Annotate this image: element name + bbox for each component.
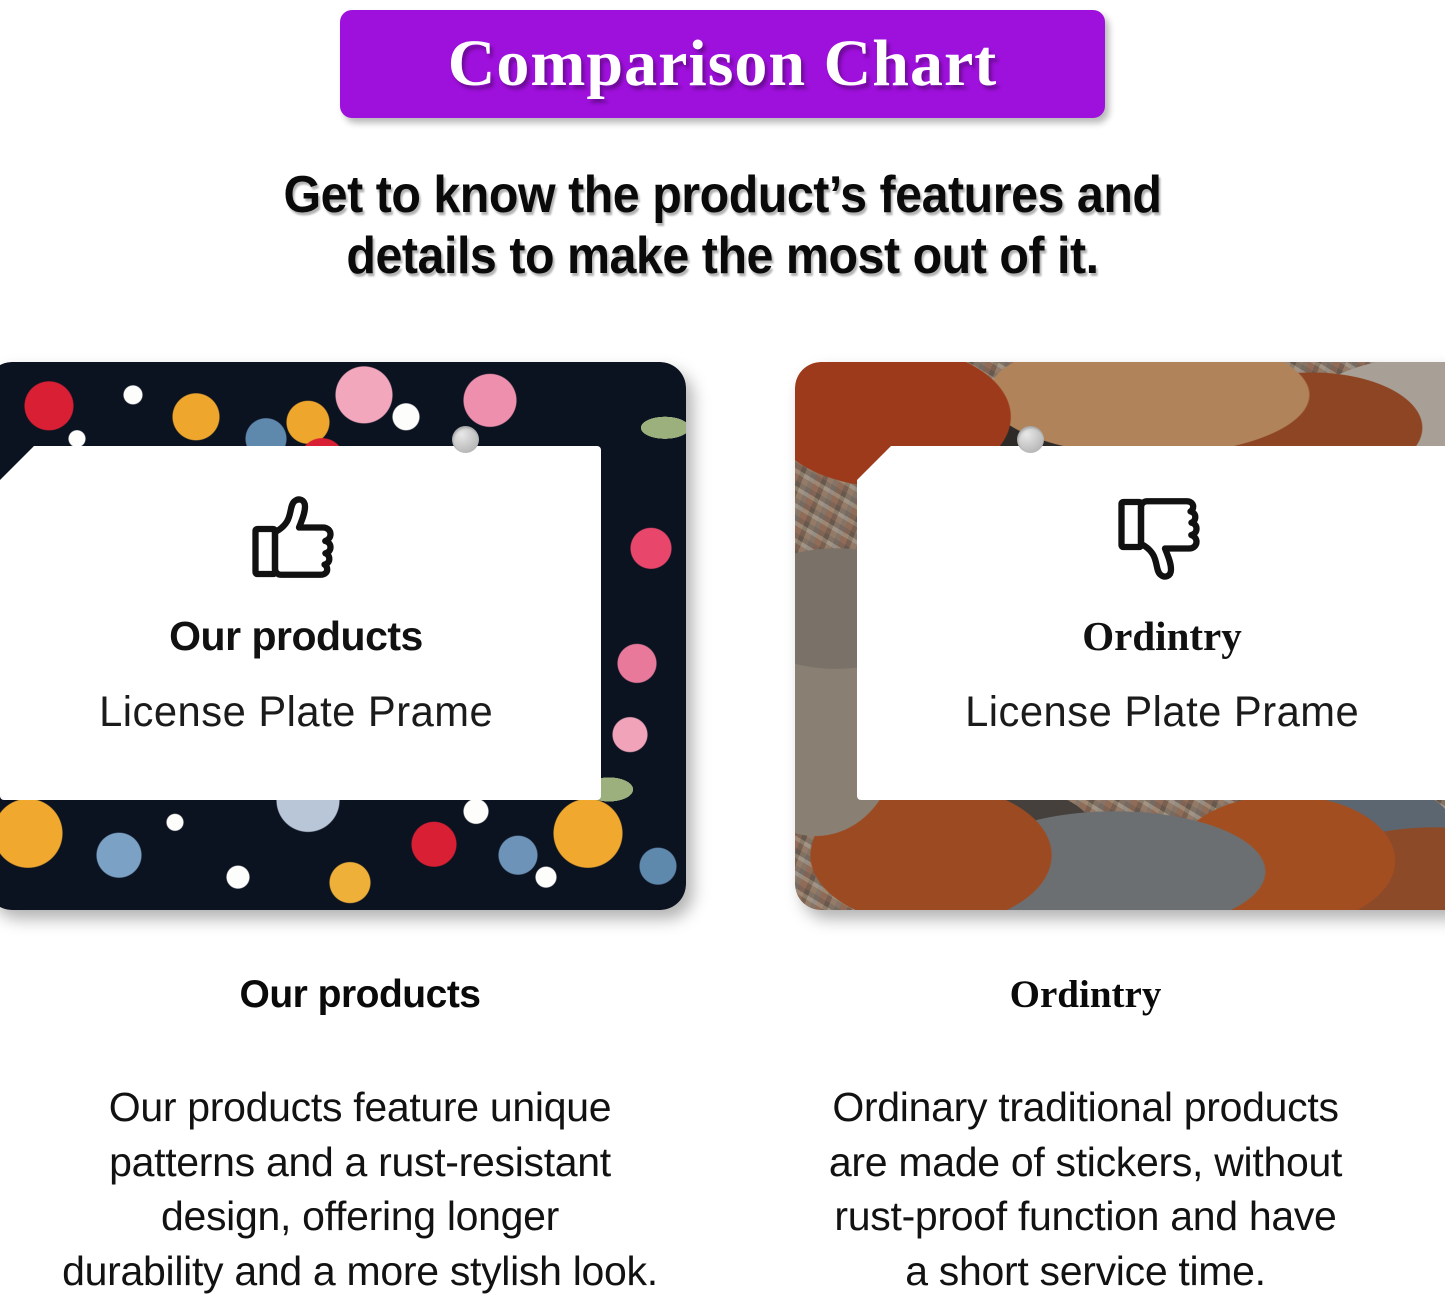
description-line: are made of stickers, without [726,1135,1445,1190]
license-plate-window [0,446,601,800]
description-ordintry: Ordintry Ordinary traditional products a… [726,975,1445,1298]
title-banner: Comparison Chart [340,10,1105,118]
description-our-products: Our products Our products feature unique… [0,975,720,1298]
description-line: patterns and a rust-resistant [0,1135,720,1190]
license-plate-window [857,446,1445,800]
subtitle: Get to know the product’s features and d… [51,165,1395,288]
description-line: design, offering longer [0,1189,720,1244]
product-card-our-products: Our products License Plate Prame [0,362,686,910]
description-line: Ordinary traditional products [726,1080,1445,1135]
subtitle-line-2: details to make the most out of it. [51,226,1395,287]
description-heading: Ordintry [726,975,1445,1014]
header-section: Comparison Chart Get to know the product… [0,0,1445,340]
descriptions-section: Our products Our products feature unique… [0,975,1445,1314]
description-line: rust-proof function and have [726,1189,1445,1244]
description-line: Our products feature unique [0,1080,720,1135]
product-card-ordintry: Ordintry License Plate Prame [795,362,1445,910]
description-line: a short service time. [726,1244,1445,1299]
description-body: Ordinary traditional products are made o… [726,1080,1445,1298]
screw-hole [1017,426,1044,453]
subtitle-line-1: Get to know the product’s features and [51,165,1395,226]
comparison-cards-section: Our products License Plate Prame Ordintr… [0,340,1445,920]
page-title: Comparison Chart [448,31,998,97]
description-body: Our products feature unique patterns and… [0,1080,720,1298]
description-heading: Our products [0,975,720,1014]
screw-hole [452,426,479,453]
description-line: durability and a more stylish look. [0,1244,720,1299]
